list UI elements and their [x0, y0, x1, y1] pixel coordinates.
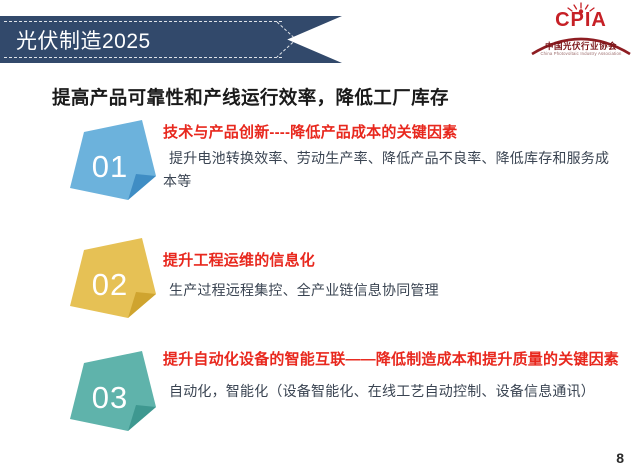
page-number: 8	[616, 450, 624, 466]
ribbon-dashed-line-top	[4, 21, 282, 22]
page-title: 光伏制造2025	[16, 25, 151, 55]
header-ribbon: 光伏制造2025	[0, 16, 342, 63]
item-body: 提升自动化设备的智能互联——降低制造成本和提升质量的关键因素 自动化，智能化（设…	[163, 349, 623, 403]
ribbon-dashed-line-bottom	[4, 57, 282, 58]
item-description: 自动化，智能化（设备智能化、在线工艺自动控制、设备信息通讯）	[163, 380, 623, 403]
badge-number: 03	[66, 349, 158, 441]
item-description: 生产过程远程集控、全产业链信息协同管理	[163, 279, 623, 302]
ribbon-chevron-icon	[276, 21, 298, 58]
item-body: 提升工程运维的信息化 生产过程远程集控、全产业链信息协同管理	[163, 250, 623, 302]
item-title: 提升工程运维的信息化	[163, 250, 623, 271]
badge-02: 02	[66, 236, 158, 328]
item-title: 技术与产品创新----降低产品成本的关键因素	[163, 122, 623, 143]
main-heading: 提高产品可靠性和产线运行效率，降低工厂库存	[52, 84, 449, 110]
logo-english-name: China Photovoltaic Industry Association	[528, 51, 634, 56]
item-body: 技术与产品创新----降低产品成本的关键因素 提升电池转换效率、劳动生产率、降低…	[163, 122, 623, 193]
cpia-logo: CPIA 中国光伏行业协会 China Photovoltaic Industr…	[528, 2, 634, 64]
item-description: 提升电池转换效率、劳动生产率、降低产品不良率、降低库存和服务成本等	[163, 147, 623, 193]
badge-03: 03	[66, 349, 158, 441]
logo-acronym: CPIA	[528, 9, 634, 31]
badge-01: 01	[66, 118, 158, 210]
slide-root: 光伏制造2025 CPIA 中国光伏行业协会 China Photovoltai…	[0, 0, 640, 474]
badge-number: 01	[66, 118, 158, 210]
item-title: 提升自动化设备的智能互联——降低制造成本和提升质量的关键因素	[163, 349, 623, 370]
badge-number: 02	[66, 236, 158, 328]
